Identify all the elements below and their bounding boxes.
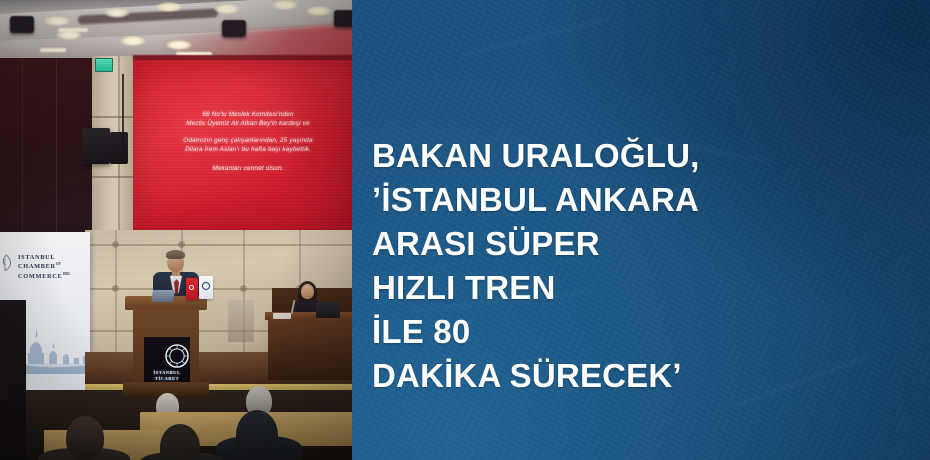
page-title: BAKAN URALOĞLU, ʼİSTANBUL ANKARA ARASI S… <box>372 134 920 398</box>
wall-seam <box>22 58 23 238</box>
chair <box>228 300 254 342</box>
crescent-star-icon <box>189 285 194 290</box>
ceiling-striplight <box>40 48 66 52</box>
speaker-hair <box>166 250 185 259</box>
ito-flag-emblem-icon <box>202 282 210 290</box>
chamber-logo-icon <box>0 254 14 272</box>
headline-line: İLE 80 <box>372 310 920 354</box>
headline-line: ʼİSTANBUL ANKARA <box>372 178 920 222</box>
ceiling-downlight <box>104 8 130 18</box>
wall-fixture <box>112 285 119 292</box>
ceiling-downlight <box>44 16 70 26</box>
ito-flag <box>199 276 213 299</box>
ceiling-downlight <box>166 40 192 50</box>
headline-panel: BAKAN URALOĞLU, ʼİSTANBUL ANKARA ARASI S… <box>352 0 930 460</box>
headline-line: DAKİKA SÜRECEKʼ <box>372 354 920 398</box>
equipment-stand <box>0 330 10 400</box>
wall-speaker <box>82 128 110 164</box>
cable <box>122 74 124 164</box>
audience-head <box>236 410 278 460</box>
ceiling-projector <box>334 10 352 27</box>
ceiling-downlight <box>306 6 332 16</box>
ceiling-downlight <box>214 4 240 14</box>
banner-line: COMMERCE1882 <box>18 271 70 281</box>
wall-seam <box>115 230 117 360</box>
wall-fixture <box>240 285 247 292</box>
headline-line: HIZLI TREN <box>372 266 920 310</box>
panel-scuff <box>464 18 610 56</box>
wall-fixture <box>112 241 119 248</box>
news-photo: 68 No'lu Meslek Komitesi'nden Meclis Üye… <box>0 0 352 460</box>
ceiling-striplight <box>58 28 88 32</box>
desk-laptop <box>316 302 340 318</box>
desk-papers <box>273 313 291 319</box>
news-thumbnail-screenshot: 68 No'lu Meslek Komitesi'nden Meclis Üye… <box>0 0 930 460</box>
column-seam <box>92 176 134 178</box>
wall-seam <box>85 244 352 246</box>
ceiling-downlight <box>272 0 298 10</box>
wall-seam <box>56 58 57 238</box>
column-seam <box>92 116 134 118</box>
turkish-flag <box>186 278 198 300</box>
banner-line: CHAMBEROF <box>18 261 70 271</box>
led-screen-line: Odamızın genç çalışanlarından, 25 yaşınd… <box>133 136 352 154</box>
banner-text: ISTANBUL CHAMBEROF COMMERCE1882 <box>18 254 70 280</box>
wall-speaker <box>110 132 128 164</box>
ceiling-projector <box>10 16 34 33</box>
podium-laptop <box>151 290 175 302</box>
wall-fixture <box>178 241 185 248</box>
headline-line: BAKAN URALOĞLU, <box>372 134 920 178</box>
seated-official-face <box>302 286 313 299</box>
ceiling-projector <box>222 20 246 37</box>
exit-sign-icon <box>95 58 113 72</box>
ceiling-downlight <box>120 36 146 46</box>
banner-line: ISTANBUL <box>18 254 70 261</box>
led-screen-line: Mekanları cennet olsun. <box>133 164 352 173</box>
podium: İSTANBUL TİCARET ODASI 1882 <box>131 296 201 396</box>
ito-emblem-icon <box>164 343 190 369</box>
audience-head <box>66 416 104 460</box>
led-screen-line: 68 No'lu Meslek Komitesi'nden Meclis Üye… <box>133 110 352 128</box>
ceiling-downlight <box>156 2 182 12</box>
presidium-desk <box>268 318 352 380</box>
led-screen: 68 No'lu Meslek Komitesi'nden Meclis Üye… <box>133 60 352 232</box>
podium-body: İSTANBUL TİCARET ODASI 1882 <box>133 309 199 383</box>
headline-line: ARASI SÜPER <box>372 222 920 266</box>
